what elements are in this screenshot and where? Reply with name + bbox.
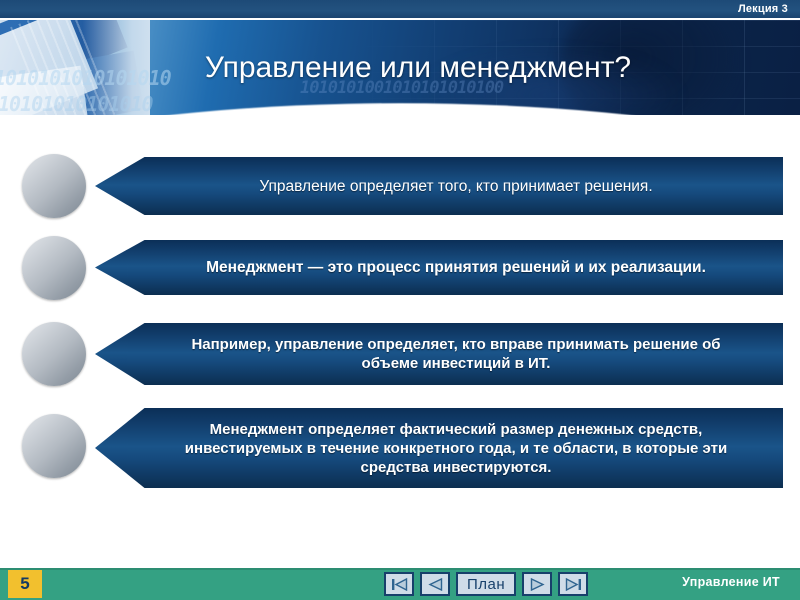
last-slide-button[interactable] [558,572,588,596]
callout-text: Например, управление определяет, кто впр… [95,335,783,373]
callout-box: Управление определяет того, кто принимае… [95,157,783,215]
callout-text: Менеджмент — это процесс принятия решени… [95,258,783,277]
callout-box: Менеджмент — это процесс принятия решени… [95,240,783,295]
footer-brand-label: Управление ИТ [682,575,780,589]
callout-text: Менеджмент определяет фактический размер… [95,420,783,477]
callout-box: Например, управление определяет, кто впр… [95,323,783,385]
top-strip-divider [0,18,800,20]
bullet-circle-icon [22,236,86,300]
first-slide-button[interactable] [384,572,414,596]
callout-box: Менеджмент определяет фактический размер… [95,408,783,488]
callout-text: Управление определяет того, кто принимае… [95,177,783,196]
bullet-list: Управление определяет того, кто принимае… [0,120,800,550]
footer-bar: 5 План [0,568,800,600]
slide-navigation: План [384,572,588,596]
footer-divider [0,568,800,570]
lecture-label: Лекция 3 [738,2,788,16]
first-slide-icon [391,578,408,591]
bullet-circle-icon [22,414,86,478]
page-number-badge: 5 [8,570,42,598]
bullet-circle-icon [22,154,86,218]
slide-canvas: Лекция 3 1010101001010101010100 10101010… [0,0,800,600]
last-slide-icon [565,578,582,591]
plan-button[interactable]: План [456,572,516,596]
next-slide-button[interactable] [522,572,552,596]
previous-slide-button[interactable] [420,572,450,596]
page-title: Управление или менеджмент? [0,20,800,115]
top-strip: Лекция 3 [0,0,800,18]
bullet-circle-icon [22,322,86,386]
header-banner: 1010101001010101010100 1010101010101010 … [0,20,800,115]
previous-slide-icon [428,578,443,591]
next-slide-icon [530,578,545,591]
